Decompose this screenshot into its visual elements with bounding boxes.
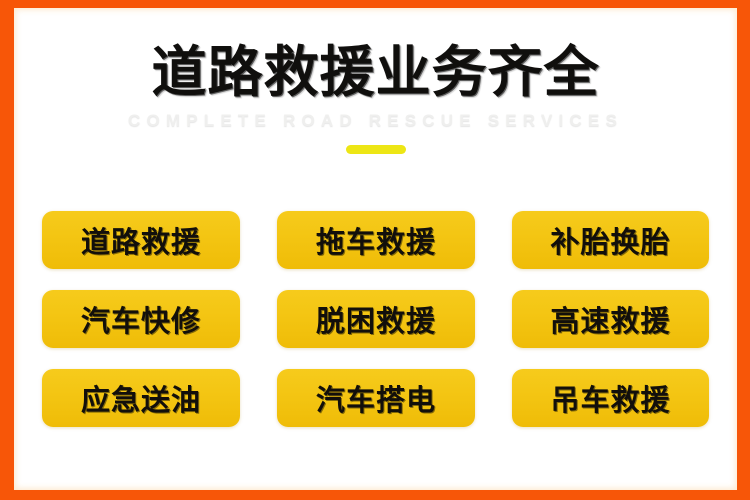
- service-chip-tire-repair-replace[interactable]: 补胎换胎: [512, 211, 709, 269]
- service-chip-quick-car-repair[interactable]: 汽车快修: [42, 290, 240, 348]
- service-chip-jump-start[interactable]: 汽车搭电: [277, 369, 475, 427]
- poster-header: 道路救援业务齐全 COMPLETE ROAD RESCUE SERVICES: [14, 8, 737, 154]
- service-chip-extrication-rescue[interactable]: 脱困救援: [277, 290, 475, 348]
- service-chip-label: 汽车搭电: [316, 377, 436, 419]
- service-chip-label: 道路救援: [81, 219, 201, 261]
- frame-border-bottom: [0, 490, 750, 500]
- service-chip-label: 拖车救援: [316, 219, 436, 261]
- service-chip-highway-rescue[interactable]: 高速救援: [512, 290, 709, 348]
- frame-border-top: [0, 0, 750, 8]
- frame-border-left: [0, 0, 14, 500]
- service-chip-crane-rescue[interactable]: 吊车救援: [512, 369, 709, 427]
- frame-border-right: [737, 0, 750, 500]
- service-chip-label: 应急送油: [81, 377, 201, 419]
- service-chip-emergency-fuel-delivery[interactable]: 应急送油: [42, 369, 240, 427]
- service-chip-grid: 道路救援 拖车救援 补胎换胎 汽车快修 脱困救援 高速救援 应急送油 汽车搭电 …: [42, 211, 708, 427]
- service-chip-tow-truck-rescue[interactable]: 拖车救援: [277, 211, 475, 269]
- accent-divider-pill: [346, 145, 406, 154]
- service-chip-road-rescue[interactable]: 道路救援: [42, 211, 240, 269]
- service-chip-label: 吊车救援: [550, 377, 670, 419]
- service-chip-label: 高速救援: [550, 298, 670, 340]
- page-subtitle: COMPLETE ROAD RESCUE SERVICES: [14, 102, 737, 131]
- page-title: 道路救援业务齐全: [14, 8, 737, 102]
- road-rescue-service-poster: 道路救援业务齐全 COMPLETE ROAD RESCUE SERVICES 道…: [0, 0, 750, 500]
- service-chip-label: 脱困救援: [316, 298, 436, 340]
- service-chip-label: 补胎换胎: [550, 219, 670, 261]
- service-chip-label: 汽车快修: [81, 298, 201, 340]
